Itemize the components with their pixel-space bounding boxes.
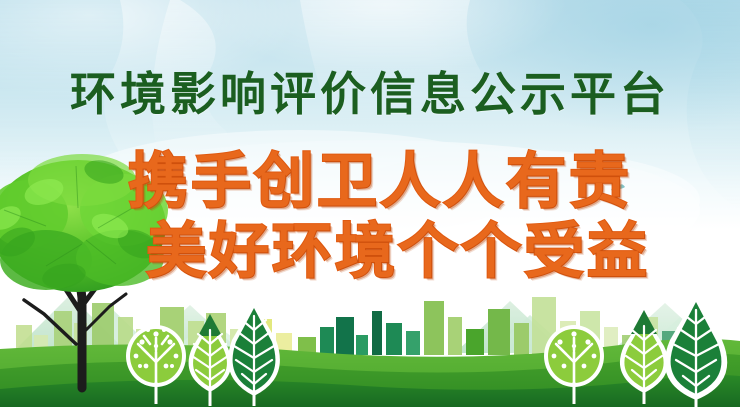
round-outline-tree-right <box>544 325 604 404</box>
leaf-outline-tree-dark-right <box>665 296 727 407</box>
stylized-outline-trees-right <box>540 296 740 407</box>
round-outline-tree <box>126 325 186 404</box>
stylized-outline-trees-left <box>118 300 298 407</box>
leaf-outline-tree-light-right <box>620 310 668 404</box>
leaf-outline-tree-dark <box>228 302 280 406</box>
tree-canopy <box>0 154 168 292</box>
environmental-banner: 环境影响评价信息公示平台 携手创卫人人有责 美好环境个个受益 <box>0 0 740 407</box>
bird-icon <box>609 180 627 196</box>
leaf-outline-tree-light <box>189 314 232 406</box>
